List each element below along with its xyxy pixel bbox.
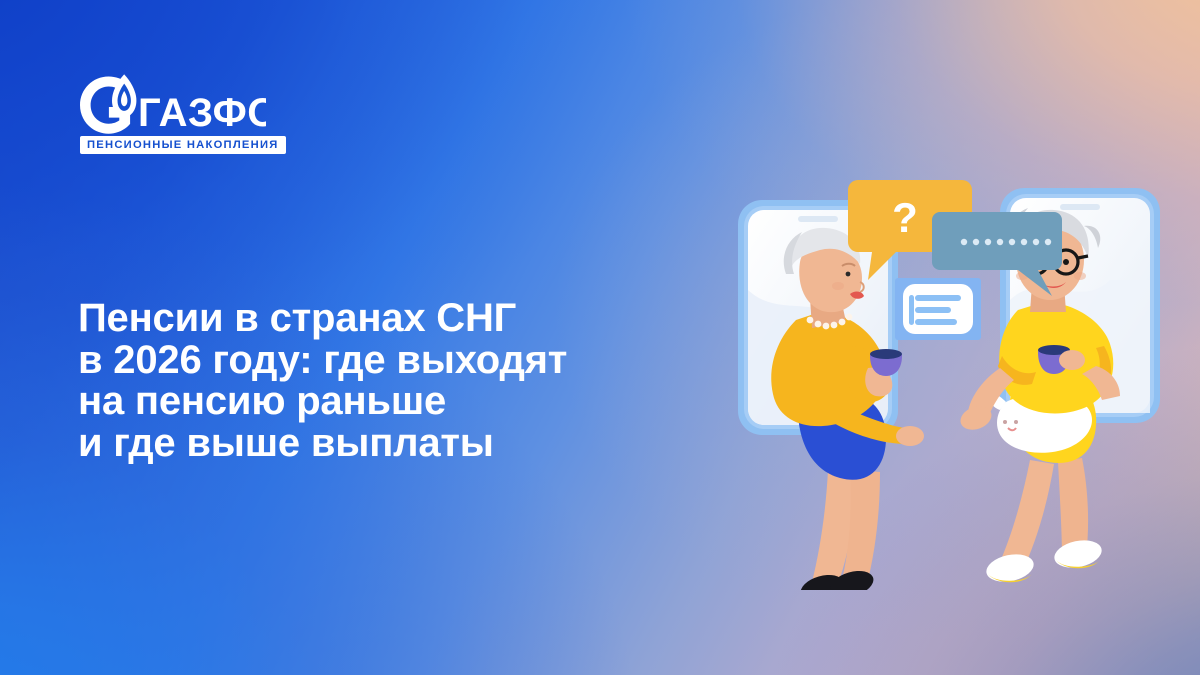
brand-logo[interactable]: ГАЗФОНД ПЕНСИОННЫЕ НАКОПЛЕНИЯ xyxy=(76,74,266,178)
page-title: Пенсии в странах СНГ в 2026 году: где вы… xyxy=(78,298,698,464)
message-card xyxy=(895,278,981,340)
headline-line-1: Пенсии в странах СНГ xyxy=(78,298,698,340)
phone-speaker-right xyxy=(1060,204,1100,210)
message-line-1 xyxy=(915,295,961,301)
hero-illustration: ? xyxy=(700,170,1200,590)
question-mark-glyph: ? xyxy=(892,194,918,241)
headline-line-4: и где выше выплаты xyxy=(78,423,698,465)
message-line-3 xyxy=(915,319,957,325)
message-bar xyxy=(909,295,914,325)
gazprom-flame-g-icon xyxy=(80,74,136,133)
shoe-right-2 xyxy=(1052,536,1104,571)
eye-left xyxy=(846,272,851,277)
brand-wordmark: ГАЗФОНД xyxy=(138,91,266,135)
phone-speaker-left xyxy=(798,216,838,222)
message-line-2 xyxy=(915,307,951,313)
brand-tagline: ПЕНСИОННЫЕ НАКОПЛЕНИЯ xyxy=(87,140,279,151)
headline-line-2: в 2026 году: где выходят xyxy=(78,340,698,382)
headline-line-3: на пенсию раньше xyxy=(78,381,698,423)
promo-banner: ГАЗФОНД ПЕНСИОННЫЕ НАКОПЛЕНИЯ Пенсии в с… xyxy=(0,0,1200,675)
brand-tagline-badge: ПЕНСИОННЫЕ НАКОПЛЕНИЯ xyxy=(80,136,286,154)
